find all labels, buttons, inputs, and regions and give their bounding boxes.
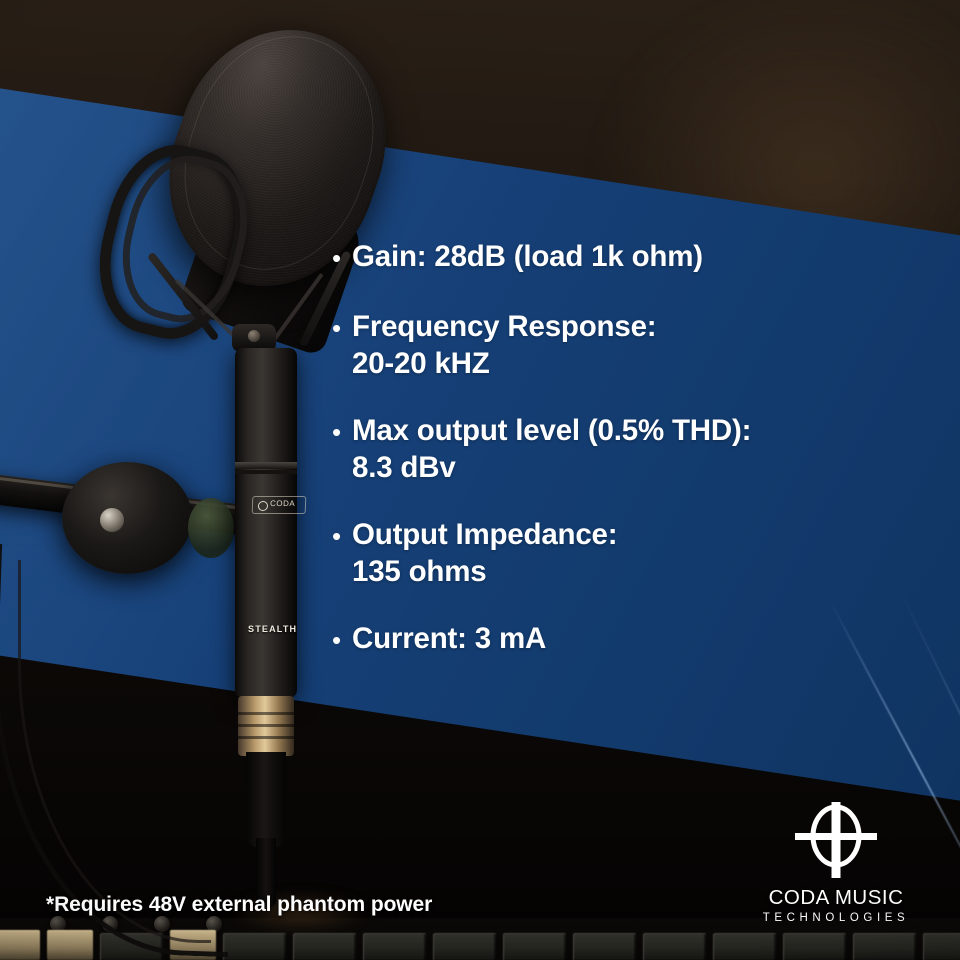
spec-item-output-impedance: • Output Impedance: 135 ohms: [332, 516, 932, 590]
xlr-ridge: [238, 712, 294, 715]
xlr-cable-boot: [246, 752, 286, 848]
preamp-seam-secondary: [235, 470, 297, 474]
spec-text-current: Current: 3 mA: [352, 620, 546, 657]
coda-badge-icon: [258, 501, 268, 511]
bullet-icon: •: [332, 516, 352, 556]
spec-list: • Gain: 28dB (load 1k ohm) • Frequency R…: [332, 238, 932, 690]
product-model-label: STEALTH: [248, 624, 297, 634]
coda-crosshair-mark-icon: [781, 800, 891, 880]
mic-cable-secondary: [18, 560, 211, 943]
preamp-seam: [235, 462, 297, 469]
xlr-ridge: [238, 724, 294, 727]
bullet-icon: •: [332, 308, 352, 348]
bullet-icon: •: [332, 238, 352, 278]
spec-item-gain: • Gain: 28dB (load 1k ohm): [332, 238, 932, 278]
boom-arm-screw: [100, 508, 124, 532]
bullet-icon: •: [332, 412, 352, 452]
phantom-power-footnote: *Requires 48V external phantom power: [46, 893, 432, 917]
spec-text-frequency-response: Frequency Response: 20-20 kHZ: [352, 308, 656, 382]
logo-name: CODA MUSIC: [736, 886, 936, 910]
promo-graphic: CODA STEALTH • Gain: 28dB (load 1k ohm) …: [0, 0, 960, 960]
inline-preamp-body: [235, 348, 297, 698]
brand-logo: CODA MUSIC TECHNOLOGIES: [736, 800, 936, 930]
coda-badge-text: CODA: [270, 499, 295, 508]
bullet-icon: •: [332, 620, 352, 660]
spec-text-max-output-level: Max output level (0.5% THD): 8.3 dBv: [352, 412, 751, 486]
spec-item-max-output-level: • Max output level (0.5% THD): 8.3 dBv: [332, 412, 932, 486]
spec-item-frequency-response: • Frequency Response: 20-20 kHZ: [332, 308, 932, 382]
boom-arm-fitting: [188, 498, 234, 558]
xlr-ridge: [238, 736, 294, 739]
spec-item-current: • Current: 3 mA: [332, 620, 932, 660]
spec-text-output-impedance: Output Impedance: 135 ohms: [352, 516, 617, 590]
shock-mount-screw: [248, 330, 260, 342]
spec-text-gain: Gain: 28dB (load 1k ohm): [352, 238, 703, 275]
coda-badge: CODA: [252, 496, 307, 514]
logo-subtitle: TECHNOLOGIES: [736, 912, 936, 924]
